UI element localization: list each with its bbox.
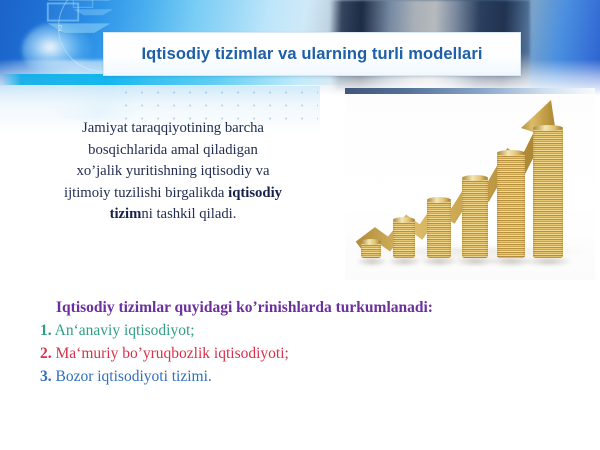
list-item-number: 2. (40, 345, 52, 362)
list-heading: Iqtisodiy tizimlar quyidagi ko’rinishlar… (40, 297, 560, 319)
list-item-label: Ma‘muriy bo’yruqbozlik iqtisodiyoti; (56, 345, 289, 362)
coin-stack (497, 153, 525, 258)
classification-list: Iqtisodiy tizimlar quyidagi ko’rinishlar… (40, 297, 560, 388)
coin-stack (533, 128, 563, 258)
coin-stack (393, 220, 415, 258)
list-item: 3. Bozor iqtisodiyoti tizimi. (40, 365, 560, 388)
paragraph-line-2: bosqichlarida amal qiladigan (88, 142, 258, 158)
body-paragraph: Jamiyat taraqqiyotining barcha bosqichla… (8, 118, 338, 226)
list-item-label: Bozor iqtisodiyoti tizimi. (56, 368, 212, 385)
paragraph-line-5-suffix: ni tashkil qiladi. (141, 206, 236, 222)
paragraph-emphasis-2: tizim (110, 206, 142, 222)
list-item-number: 3. (40, 368, 52, 385)
slide-title-box: Iqtisodiy tizimlar va ularning turli mod… (103, 32, 521, 76)
paragraph-line-3: xo’jalik yuritishning iqtisodiy va (77, 163, 270, 179)
paragraph-line-4-prefix: ijtimoiy tuzilishi birgalikda (64, 185, 228, 201)
hexagon-small-icon (73, 0, 93, 8)
page-title: Iqtisodiy tizimlar va ularning turli mod… (141, 45, 482, 64)
list-item-label: An‘anaviy iqtisodiyot; (55, 322, 195, 339)
coin-stack (427, 200, 451, 258)
paragraph-line-1: Jamiyat taraqqiyotining barcha (82, 120, 264, 136)
presentation-slide: 2 Iqtisodiy tizimlar va ularning turli m… (0, 0, 600, 450)
coin-stack (361, 242, 381, 258)
decorative-digit: 2 (58, 24, 62, 33)
growth-chart-image (345, 88, 595, 280)
paragraph-emphasis-1: iqtisodiy (228, 185, 282, 201)
list-item-number: 1. (40, 322, 52, 339)
coin-stack (462, 178, 488, 258)
list-item: 2. Ma‘muriy bo’yruqbozlik iqtisodiyoti; (40, 342, 560, 365)
list-item: 1. An‘anaviy iqtisodiyot; (40, 319, 560, 342)
